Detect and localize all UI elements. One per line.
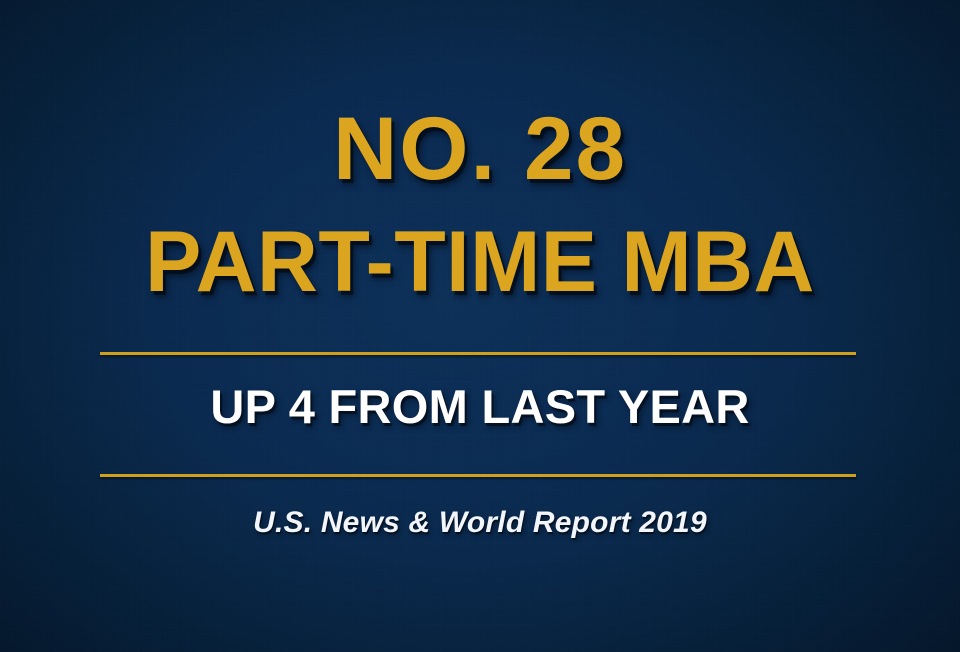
rank-change: UP 4 FROM LAST YEAR [0, 383, 960, 430]
source-attribution: U.S. News & World Report 2019 [0, 508, 960, 538]
divider-top [100, 352, 856, 355]
program-name: PART-TIME MBA [10, 219, 951, 305]
divider-bottom [100, 474, 856, 477]
rank-number: NO. 28 [0, 104, 960, 193]
ranking-badge: NO. 28 PART-TIME MBA UP 4 FROM LAST YEAR… [0, 0, 960, 652]
badge-content: NO. 28 PART-TIME MBA UP 4 FROM LAST YEAR… [0, 0, 960, 652]
